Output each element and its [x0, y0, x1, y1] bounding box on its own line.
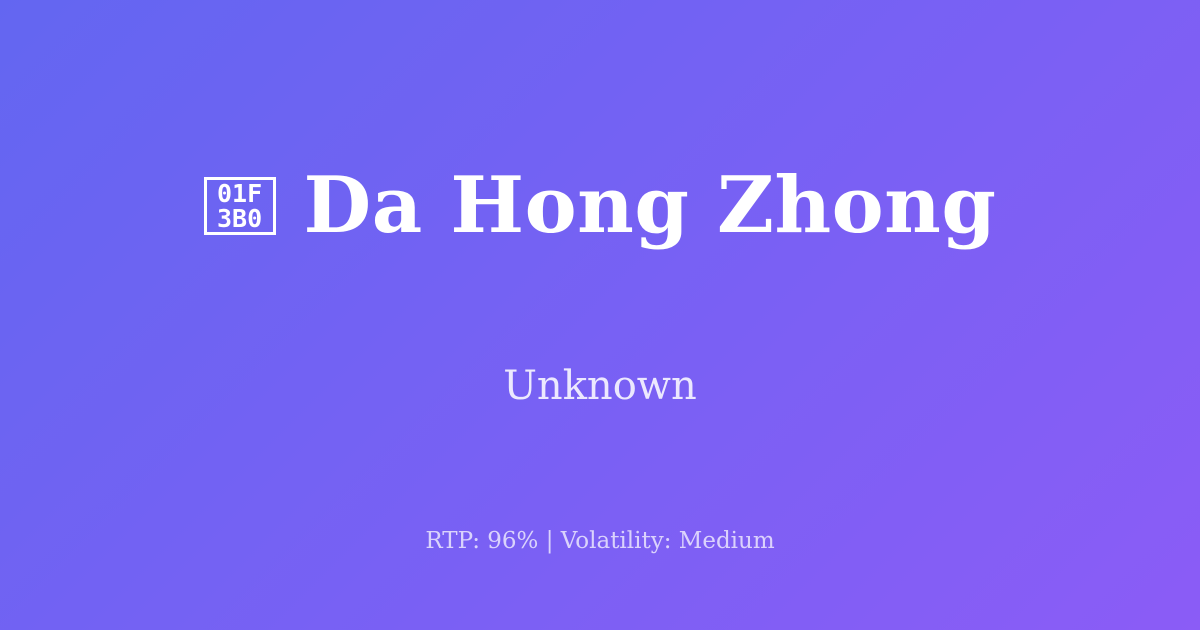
game-og-card: 01F 3B0 Da Hong Zhong Unknown RTP: 96% |… — [0, 0, 1200, 630]
tofu-codepoint-row-top: 01F — [217, 181, 262, 206]
game-title: Da Hong Zhong — [304, 165, 997, 247]
game-subtitle: Unknown — [0, 362, 1200, 410]
slot-machine-icon: 01F 3B0 — [204, 177, 276, 235]
tofu-codepoint-row-bottom: 3B0 — [217, 206, 262, 231]
title-line: 01F 3B0 Da Hong Zhong — [204, 165, 997, 247]
game-meta-line: RTP: 96% | Volatility: Medium — [0, 528, 1200, 556]
